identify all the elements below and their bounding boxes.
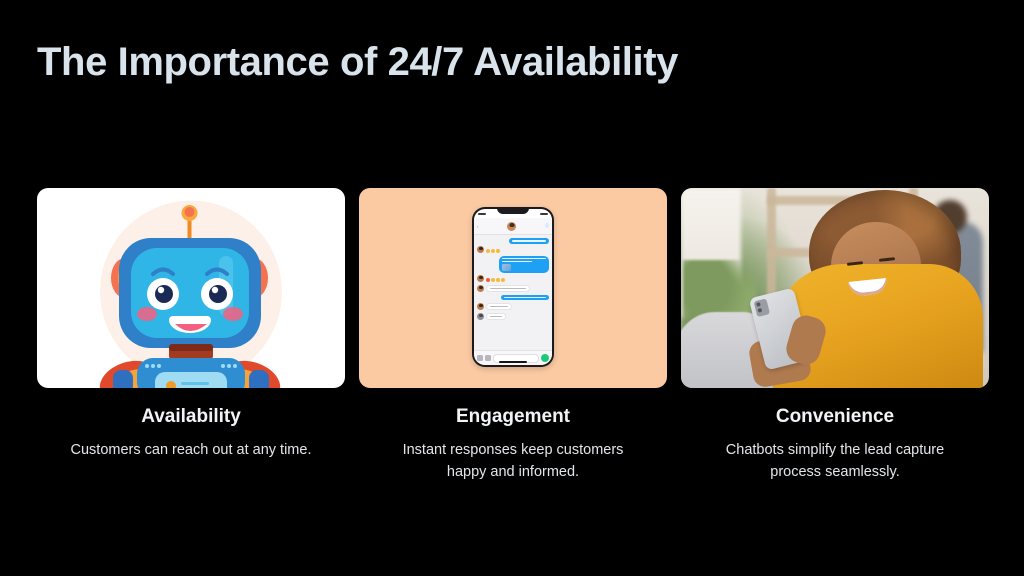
feature-card-availability[interactable]: Availability Customers can reach out at …	[37, 188, 345, 484]
camera-icon[interactable]	[477, 355, 483, 361]
phone-screen: ‹ ⓘ	[474, 209, 552, 365]
home-indicator	[499, 361, 527, 363]
emoji-reaction-group	[486, 249, 500, 253]
woman-with-phone-photo	[681, 188, 989, 388]
emoji-icon	[491, 278, 495, 282]
chat-bubble-outgoing	[509, 238, 549, 244]
avatar	[477, 313, 484, 320]
avatar	[477, 303, 484, 310]
text-line	[490, 288, 526, 290]
robot-icon	[91, 200, 291, 388]
chat-bubble-outgoing	[499, 256, 549, 273]
page-title: The Importance of 24/7 Availability	[37, 38, 678, 86]
text-line	[504, 297, 546, 299]
text-line	[490, 306, 508, 308]
card-heading: Engagement	[456, 406, 570, 429]
emoji-icon	[501, 278, 505, 282]
feature-card-row: Availability Customers can reach out at …	[0, 188, 1024, 484]
chat-bubble-incoming	[486, 303, 512, 311]
avatar	[477, 275, 484, 282]
card-description: Chatbots simplify the lead capture proce…	[709, 439, 961, 484]
image-attachment	[502, 264, 511, 271]
chat-bubble-outgoing	[501, 295, 549, 301]
message-row-incoming	[477, 313, 549, 321]
text-line	[512, 240, 546, 242]
feature-card-convenience[interactable]: Convenience Chatbots simplify the lead c…	[681, 188, 989, 484]
message-row-reaction	[477, 246, 549, 253]
emoji-reaction-group	[486, 278, 505, 282]
phone-camera-icon	[754, 298, 770, 317]
emoji-icon	[496, 249, 500, 253]
message-row-outgoing	[477, 295, 549, 301]
feature-card-engagement[interactable]: ‹ ⓘ	[359, 188, 667, 484]
card-description: Customers can reach out at any time.	[65, 439, 317, 461]
card-heading: Availability	[141, 406, 241, 429]
message-row-incoming	[477, 285, 549, 293]
avatar	[477, 246, 484, 253]
chat-bubble-incoming	[486, 285, 530, 293]
send-button[interactable]	[541, 354, 549, 362]
back-chevron-icon[interactable]: ‹	[477, 224, 478, 229]
apps-icon[interactable]	[485, 355, 491, 361]
message-row-outgoing	[477, 238, 549, 244]
message-row-reaction	[477, 275, 549, 282]
message-row-incoming	[477, 303, 549, 311]
message-row-outgoing	[477, 256, 549, 273]
card-description: Instant responses keep customers happy a…	[387, 439, 639, 484]
slide-root: The Importance of 24/7 Availability	[0, 0, 1024, 576]
avatar	[477, 285, 484, 292]
emoji-icon	[491, 249, 495, 253]
emoji-icon	[486, 249, 490, 253]
info-icon[interactable]: ⓘ	[545, 223, 549, 229]
chat-phone-illustration-image: ‹ ⓘ	[359, 188, 667, 388]
emoji-icon	[496, 278, 500, 282]
chat-header: ‹ ⓘ	[474, 218, 552, 235]
text-line	[502, 261, 532, 263]
smartphone-mockup: ‹ ⓘ	[472, 207, 554, 367]
text-line	[490, 316, 502, 318]
chat-bubble-incoming	[486, 313, 506, 321]
emoji-icon	[486, 278, 490, 282]
phone-notch	[497, 207, 529, 214]
status-signal-icon	[540, 213, 548, 215]
status-time	[478, 213, 486, 215]
text-line	[502, 258, 546, 260]
card-heading: Convenience	[776, 406, 894, 429]
robot-illustration-image	[37, 188, 345, 388]
contact-avatar	[507, 222, 516, 231]
chat-message-list[interactable]	[474, 235, 552, 350]
